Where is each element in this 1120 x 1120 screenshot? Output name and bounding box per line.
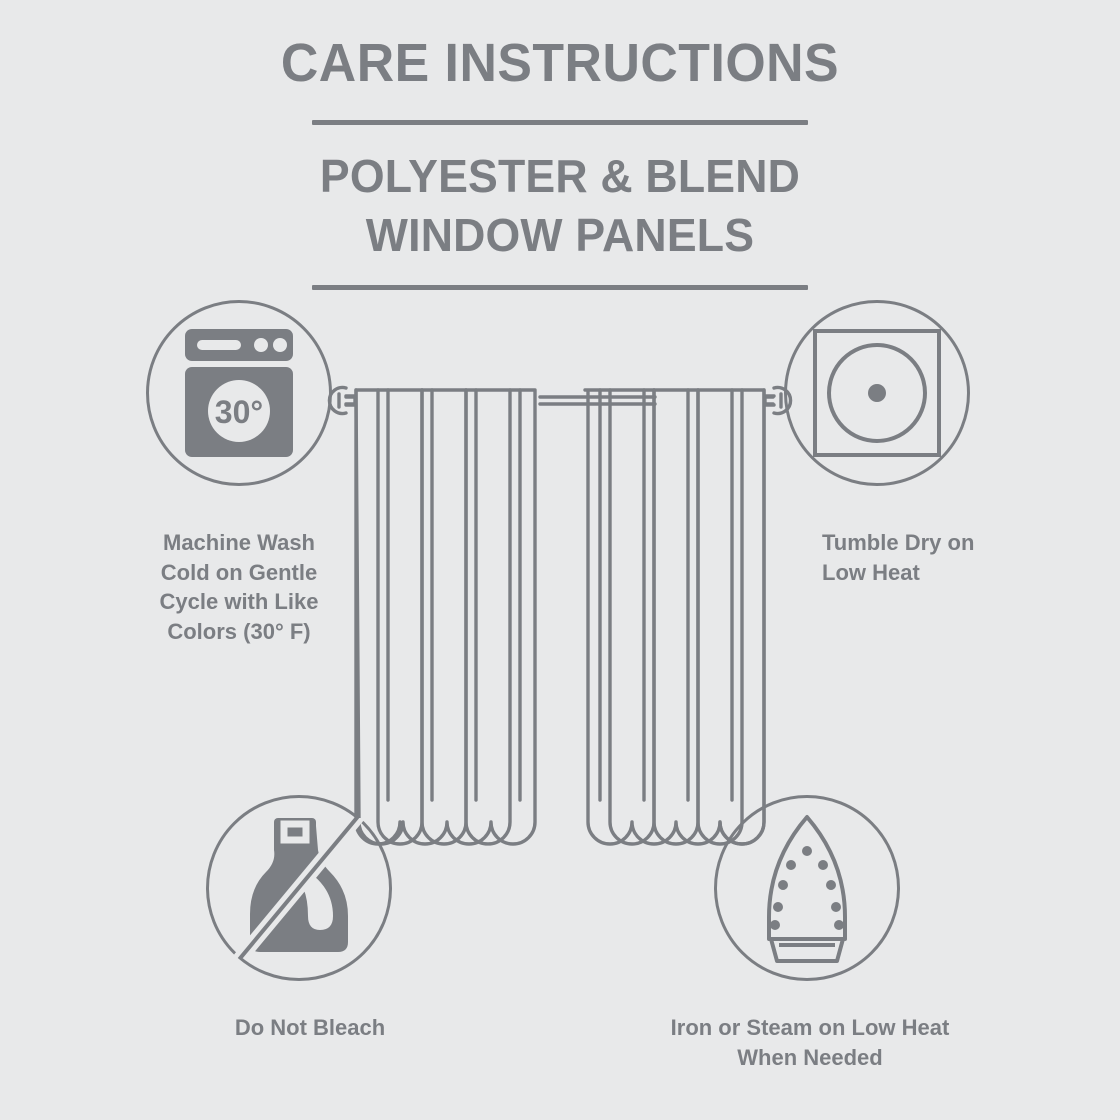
tumble-dry-icon xyxy=(784,300,970,486)
caption-tumble-dry: Tumble Dry on Low Heat xyxy=(822,528,1102,587)
subtitle: POLYESTER & BLEND WINDOW PANELS xyxy=(0,147,1120,265)
care-instructions-page: CARE INSTRUCTIONS POLYESTER & BLEND WIND… xyxy=(0,0,1120,1120)
washing-machine-icon: 30° xyxy=(146,300,332,486)
icon-badge-iron xyxy=(714,795,900,981)
header: CARE INSTRUCTIONS POLYESTER & BLEND WIND… xyxy=(0,0,1120,290)
wash-temperature-label: 30° xyxy=(215,394,263,430)
curtain-panel-right xyxy=(585,390,764,844)
icon-badge-tumble-dry xyxy=(784,300,970,486)
subtitle-divider xyxy=(312,285,808,290)
caption-machine-wash: Machine Wash Cold on Gentle Cycle with L… xyxy=(78,528,400,647)
caption-iron: Iron or Steam on Low Heat When Needed xyxy=(600,1013,1020,1072)
subtitle-line-1: POLYESTER & BLEND xyxy=(17,147,1103,206)
no-bleach-icon xyxy=(206,795,392,981)
iron-icon xyxy=(714,795,900,981)
icon-badge-machine-wash: 30° xyxy=(146,300,332,486)
icon-badge-do-not-bleach xyxy=(206,795,392,981)
title-divider xyxy=(312,120,808,125)
curtain-rod xyxy=(346,397,773,404)
caption-do-not-bleach: Do Not Bleach xyxy=(160,1013,460,1043)
subtitle-line-2: WINDOW PANELS xyxy=(17,206,1103,265)
finial-left-icon xyxy=(329,388,355,414)
page-title: CARE INSTRUCTIONS xyxy=(22,0,1097,90)
